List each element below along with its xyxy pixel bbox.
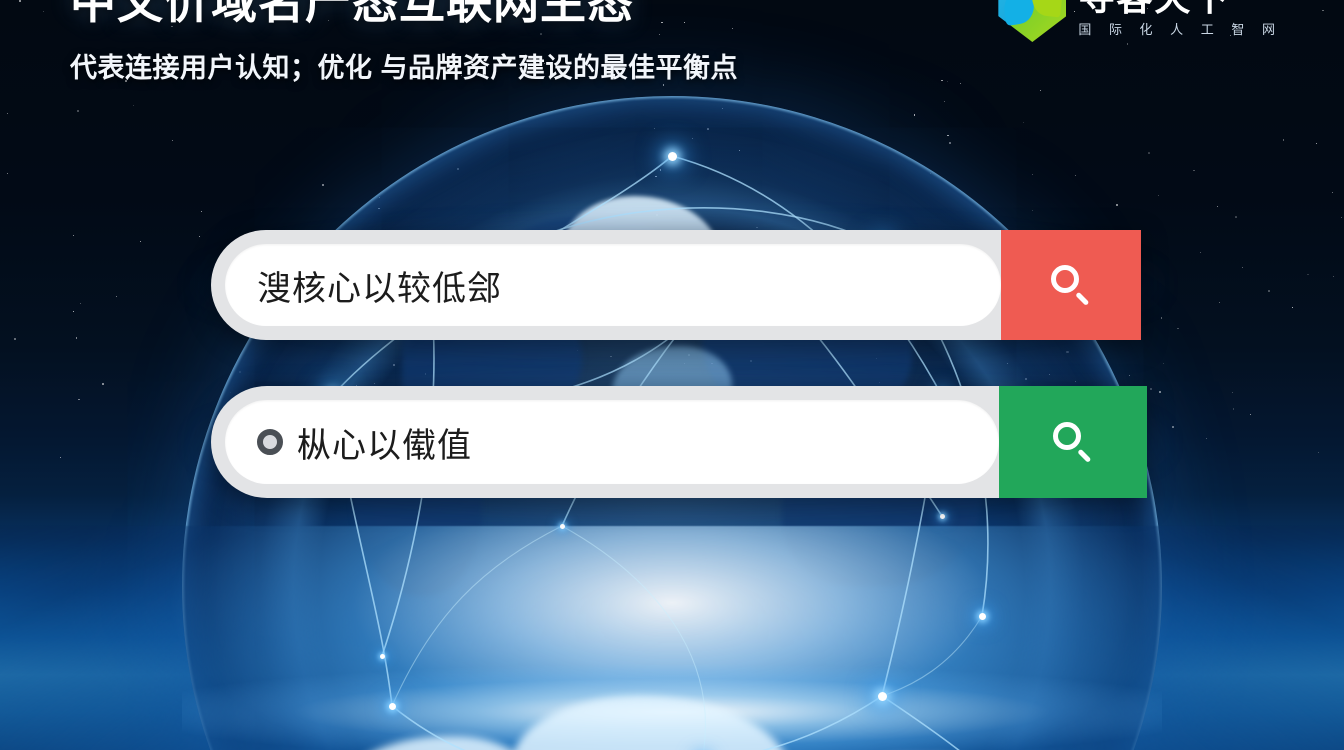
search-input-secondary-wrap[interactable]: 枞心以傤值 [225, 400, 999, 484]
search-icon [1051, 265, 1091, 305]
brand-logo[interactable]: 寻客天下 国 际 化 人 工 智 网 [998, 0, 1282, 42]
page-subtitle: 代表连接用户认知；优化 与品牌资产建设的最佳平衡点 [70, 46, 738, 85]
search-button-secondary[interactable] [999, 386, 1147, 498]
poster-canvas: 中文价域名产态互联网生态 代表连接用户认知；优化 与品牌资产建设的最佳平衡点 寻… [0, 0, 1344, 750]
circle-ring-icon [257, 429, 283, 455]
page-title: 中文价域名产态互联网生态 [70, 0, 634, 32]
shield-leaf-logo-icon [998, 0, 1066, 42]
search-input-primary[interactable]: 溲核心以较低郐 [257, 261, 502, 310]
search-bar-secondary[interactable]: 枞心以傤值 [211, 386, 1147, 498]
search-input-primary-wrap[interactable]: 溲核心以较低郐 [225, 244, 1001, 326]
search-bar-primary[interactable]: 溲核心以较低郐 [211, 230, 1141, 340]
search-icon [1053, 422, 1093, 462]
logo-wordmark: 寻客天下 [1078, 0, 1282, 16]
search-button-primary[interactable] [1001, 230, 1141, 340]
logo-tagline: 国 际 化 人 工 智 网 [1078, 23, 1282, 36]
search-input-secondary[interactable]: 枞心以傤值 [297, 418, 472, 467]
